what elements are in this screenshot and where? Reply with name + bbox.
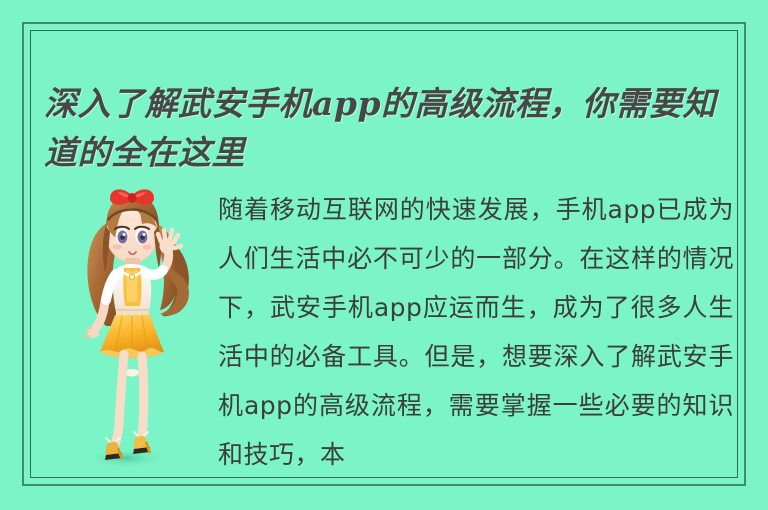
chibi-anime-girl-illustration (62, 176, 202, 476)
article-card: 深入了解武安手机app的高级流程，你需要知道的全在这里 (0, 0, 768, 510)
hair-bow (110, 189, 154, 204)
page-title: 深入了解武安手机app的高级流程，你需要知道的全在这里 (44, 79, 734, 177)
article-body: 随着移动互联网的快速发展，手机app已成为人们生活中必不可少的一部分。在这样的情… (218, 185, 734, 485)
